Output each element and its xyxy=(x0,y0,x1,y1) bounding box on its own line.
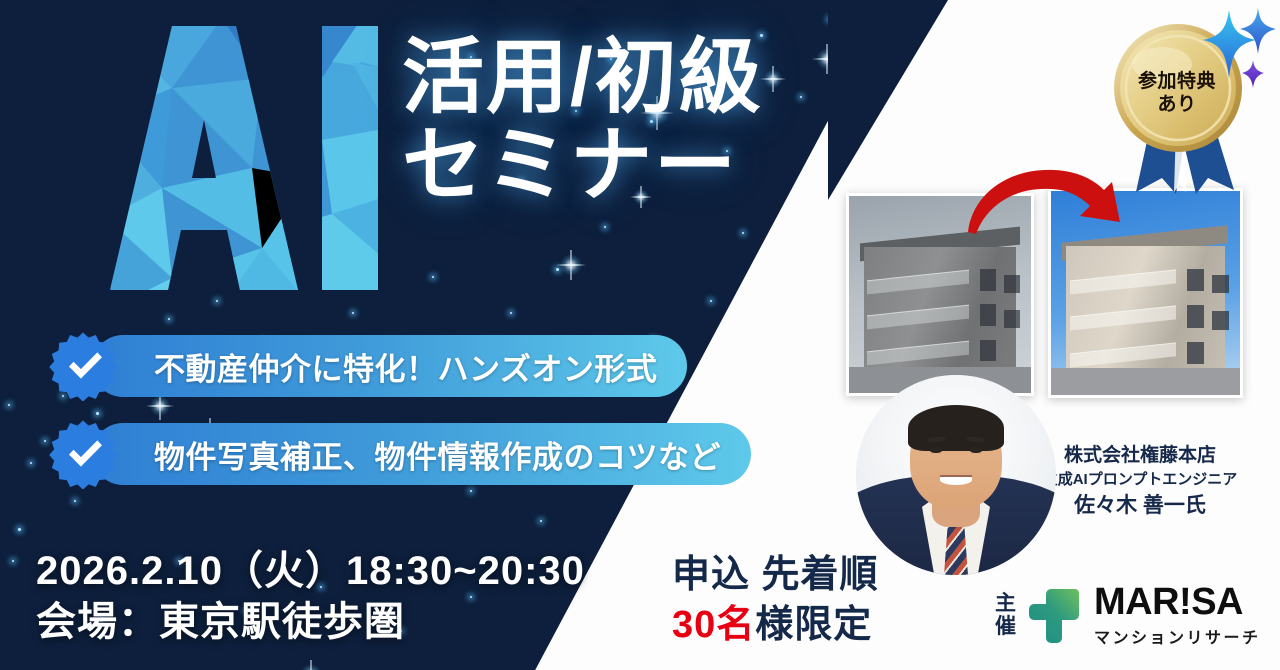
event-date: 2026.2.10（火）18:30~20:30 xyxy=(36,546,585,597)
sponsor-label-line-1: 主 xyxy=(995,593,1016,615)
sponsor-name-exclamation: ! xyxy=(1179,581,1191,623)
page-title: 活用/初級 セミナー xyxy=(402,36,872,211)
feature-pill-1: 不動産仲介に特化！ハンズオン形式 xyxy=(92,335,687,397)
application-capacity: 30名様限定 xyxy=(672,601,879,650)
avatar-mouth xyxy=(940,475,972,485)
feature-label-2: 物件写真補正、物件情報作成のコツなど xyxy=(154,432,721,477)
sponsor-wordmark: MAR!SA マンションリサーチ xyxy=(1094,583,1261,648)
before-window xyxy=(980,269,996,291)
red-arrow-icon xyxy=(962,160,1130,238)
after-window xyxy=(1212,311,1229,329)
after-window xyxy=(1187,305,1204,327)
avatar-eye-right xyxy=(970,447,982,453)
check-icon xyxy=(48,419,118,489)
sponsor-name-part-1: MAR xyxy=(1094,581,1179,623)
after-window xyxy=(1187,342,1204,364)
before-window xyxy=(980,304,996,326)
before-window xyxy=(1004,275,1020,293)
capacity-count: 30名 xyxy=(672,604,755,646)
capacity-suffix: 様限定 xyxy=(755,604,872,646)
before-window xyxy=(980,340,996,362)
sponsor-label: 主 催 xyxy=(995,593,1016,638)
feature-item-1: 不動産仲介に特化！ハンズオン形式 xyxy=(48,333,808,399)
headline-line-1: 活用/初級 xyxy=(402,36,872,120)
sponsor-section: 主 催 MAR!SA マンションリサーチ xyxy=(995,583,1261,648)
after-ground xyxy=(1051,368,1240,395)
event-venue: 会場：東京駅徒歩圏 xyxy=(36,597,585,648)
after-window xyxy=(1187,269,1204,291)
event-info: 2026.2.10（火）18:30~20:30 会場：東京駅徒歩圏 xyxy=(36,546,585,648)
ai-logo xyxy=(22,18,394,308)
bonus-badge-line-2: あり xyxy=(1112,93,1242,116)
avatar-eye-left xyxy=(930,447,942,453)
sponsor-name-part-2: SA xyxy=(1191,581,1243,623)
application-method: 申込 先着順 xyxy=(672,551,879,600)
headline-line-2: セミナー xyxy=(402,120,872,212)
check-icon xyxy=(48,331,118,401)
feature-pill-2: 物件写真補正、物件情報作成のコツなど xyxy=(92,423,751,485)
feature-item-2: 物件写真補正、物件情報作成のコツなど xyxy=(48,421,808,487)
sparkle-icon xyxy=(1196,2,1280,88)
sponsor-subtitle: マンションリサーチ xyxy=(1094,624,1261,648)
application-info: 申込 先着順 30名様限定 xyxy=(672,551,879,650)
after-window xyxy=(1212,275,1229,293)
sponsor-label-line-2: 催 xyxy=(995,616,1016,638)
feature-list: 不動産仲介に特化！ハンズオン形式 物件写真補正、物件情報作成のコツなど xyxy=(48,333,808,509)
before-window xyxy=(1004,310,1020,328)
marisa-logo-icon xyxy=(1029,587,1081,645)
avatar-hair xyxy=(908,405,1004,451)
feature-label-1: 不動産仲介に特化！ハンズオン形式 xyxy=(154,344,657,389)
seminar-banner: 活用/初級 セミナー 不動産仲介に特化！ハンズオン形式 物件写真補正、物件情報作… xyxy=(0,0,1280,670)
sponsor-name: MAR!SA xyxy=(1094,583,1261,621)
speaker-avatar xyxy=(856,375,1056,575)
